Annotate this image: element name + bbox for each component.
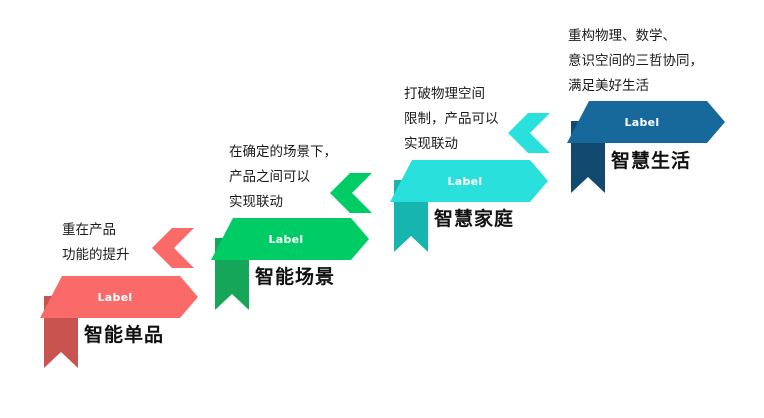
step-3-arrow-banner[interactable]: Label <box>390 160 548 202</box>
step-3-label: Label <box>390 160 540 202</box>
step-2-caption-line-1: 在确定的场景下， <box>229 140 337 165</box>
step-3-title: 智慧家庭 <box>434 204 514 231</box>
step-1-label: Label <box>40 276 190 318</box>
step-3-chevron-left-icon <box>508 113 550 153</box>
step-4-arrow-banner[interactable]: Label <box>567 101 725 143</box>
step-1-caption: 重在产品功能的提升 <box>62 218 130 268</box>
step-3-caption-line-2: 限制，产品可以 <box>404 107 499 132</box>
step-4-label: Label <box>567 101 717 143</box>
step-4-caption-line-3: 满足美好生活 <box>568 74 703 99</box>
step-2-caption-line-3: 实现联动 <box>229 190 337 215</box>
step-1-caption-line-2: 功能的提升 <box>62 243 130 268</box>
step-2-title: 智能场景 <box>255 262 335 289</box>
step-2-caption: 在确定的场景下，产品之间可以实现联动 <box>229 140 337 215</box>
step-3-caption: 打破物理空间限制，产品可以实现联动 <box>404 82 499 157</box>
step-2-caption-line-2: 产品之间可以 <box>229 165 337 190</box>
infographic-canvas: Label重在产品功能的提升智能单品Label在确定的场景下，产品之间可以实现联… <box>0 0 764 418</box>
step-1-caption-line-1: 重在产品 <box>62 218 130 243</box>
step-4-caption-line-1: 重构物理、数学、 <box>568 24 703 49</box>
step-4-title: 智慧生活 <box>611 146 691 173</box>
step-1-chevron-left-icon <box>152 228 194 268</box>
step-1-arrow-banner[interactable]: Label <box>40 276 198 318</box>
step-3-caption-line-1: 打破物理空间 <box>404 82 499 107</box>
step-1-title: 智能单品 <box>84 320 164 347</box>
step-3-caption-line-3: 实现联动 <box>404 132 499 157</box>
step-4-caption-line-2: 意识空间的三哲协同， <box>568 49 703 74</box>
step-2-label: Label <box>211 218 361 260</box>
step-2-arrow-banner[interactable]: Label <box>211 218 369 260</box>
step-4-caption: 重构物理、数学、意识空间的三哲协同，满足美好生活 <box>568 24 703 99</box>
